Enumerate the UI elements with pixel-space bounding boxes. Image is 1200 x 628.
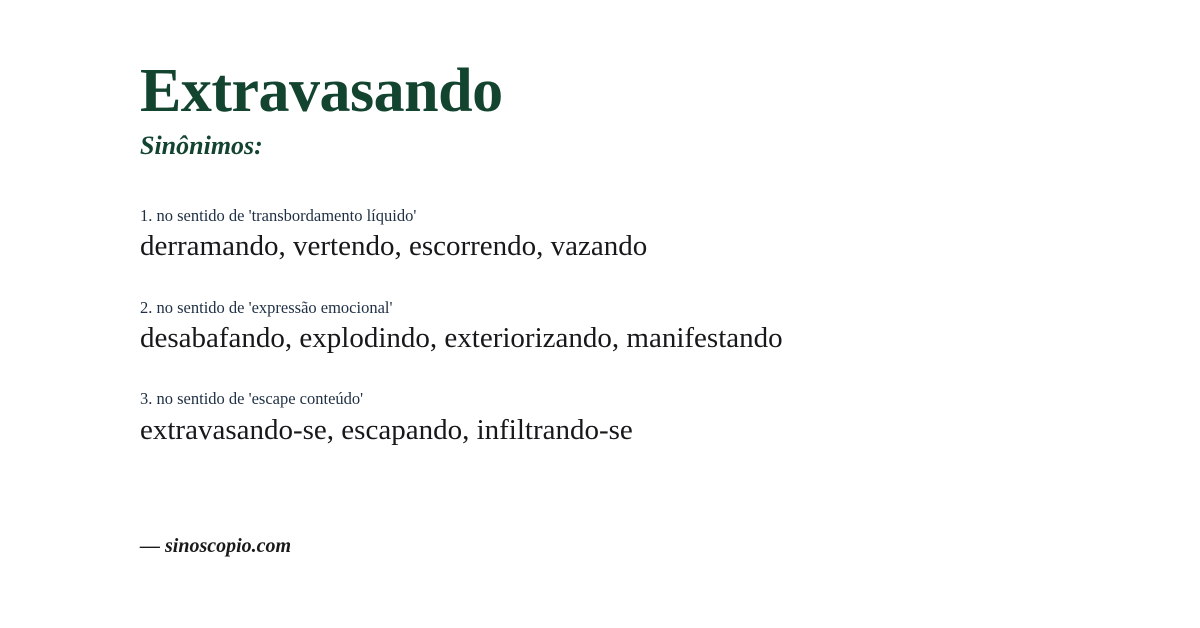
section-subtitle: Sinônimos: <box>140 133 263 159</box>
source-attribution: — sinoscopio.com <box>140 534 291 558</box>
sense-entry: 1. no sentido de 'transbordamento líquid… <box>140 205 1100 265</box>
sense-label: 1. no sentido de 'transbordamento líquid… <box>140 205 1100 226</box>
synonym-card: Extravasando Sinônimos: 1. no sentido de… <box>0 0 1200 628</box>
sense-label: 2. no sentido de 'expressão emocional' <box>140 297 1100 318</box>
sense-synonyms: desabafando, explodindo, exteriorizando,… <box>140 320 1100 356</box>
sense-label: 3. no sentido de 'escape conteúdo' <box>140 388 1100 409</box>
sense-synonyms: derramando, vertendo, escorrendo, vazand… <box>140 228 1100 264</box>
sense-entry: 2. no sentido de 'expressão emocional' d… <box>140 297 1100 357</box>
sense-synonyms: extravasando-se, escapando, infiltrando-… <box>140 412 1100 448</box>
sense-entry: 3. no sentido de 'escape conteúdo' extra… <box>140 388 1100 448</box>
page-title: Extravasando <box>140 60 503 122</box>
sense-list: 1. no sentido de 'transbordamento líquid… <box>140 205 1100 448</box>
